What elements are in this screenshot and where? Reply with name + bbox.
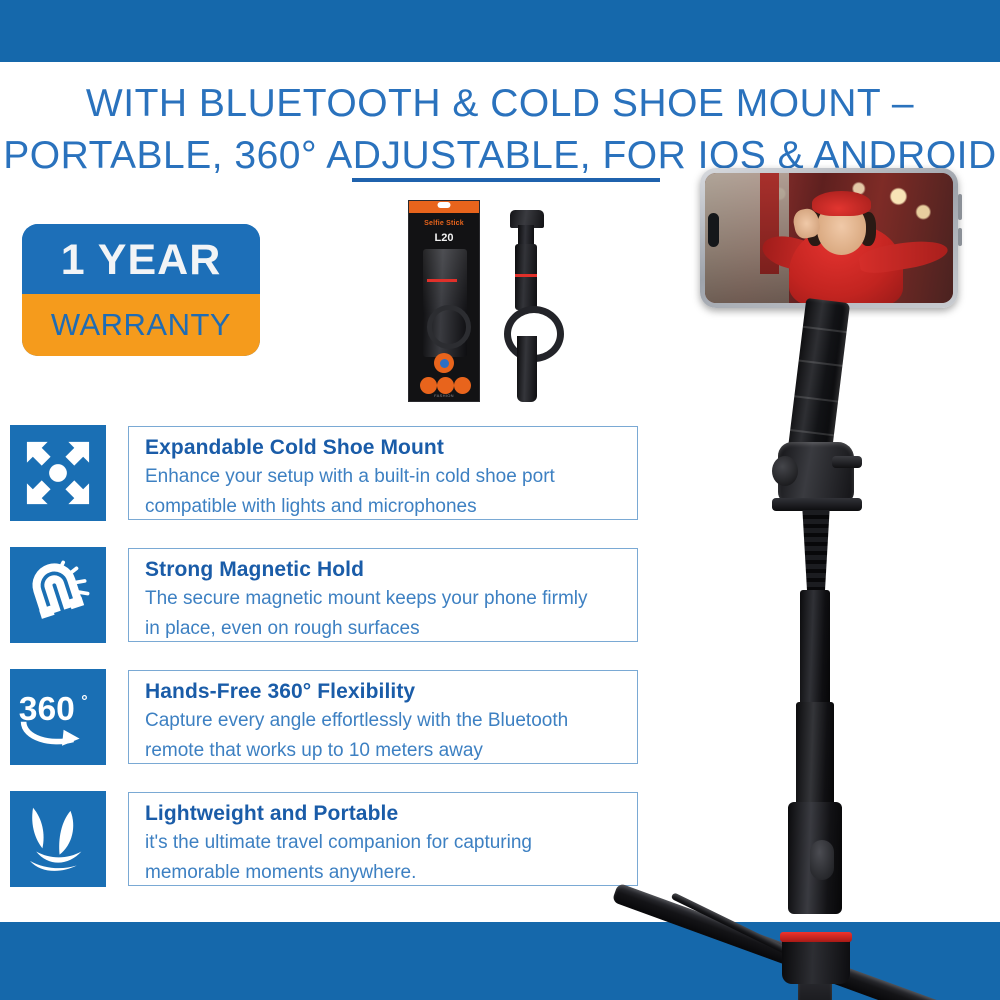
- package-badge-dot: [440, 359, 449, 368]
- top-blue-band: [0, 0, 1000, 62]
- package-feature-dot: [437, 377, 454, 394]
- package-red-accent: [427, 279, 457, 282]
- stick-pole: [517, 336, 537, 402]
- expand-arrows-icon: [10, 425, 106, 521]
- package-model-text: L20: [409, 232, 479, 244]
- product-photo-caption: selfie-stick-tripod-with-phone-mounted: [560, 150, 561, 151]
- package-footer-text: FASHION: [409, 393, 479, 398]
- screen-person-beret: [812, 191, 872, 216]
- pole-ribbed-section: [796, 510, 836, 594]
- package-hang-tab: [409, 200, 479, 213]
- main-product-photo: selfie-stick-tripod-with-phone-mounted: [560, 150, 1000, 930]
- package-ring-illustration: [427, 305, 471, 349]
- package-feature-dot: [420, 377, 437, 394]
- pole-middle-section: [796, 702, 834, 812]
- warranty-badge: 1 YEAR WARRANTY: [22, 224, 260, 356]
- mounted-phone: [700, 168, 958, 308]
- pole-collar: [772, 498, 862, 511]
- phone-camera-notch: [708, 213, 719, 247]
- magnet-icon: [10, 547, 106, 643]
- joint-adjust-knob: [772, 456, 798, 486]
- phone-side-button: [958, 194, 962, 220]
- feather-icon: [10, 791, 106, 887]
- package-hang-hole: [438, 202, 451, 208]
- stick-red-accent: [515, 274, 537, 277]
- folded-selfie-stick-photo: [492, 210, 562, 406]
- phone-screen: [705, 173, 953, 303]
- svg-text:°: °: [81, 693, 87, 710]
- svg-text:360: 360: [19, 691, 75, 728]
- package-badge: [434, 353, 454, 373]
- 360-rotation-icon: 360 °: [10, 669, 106, 765]
- product-infographic: WITH BLUETOOTH & COLD SHOE MOUNT – PORTA…: [0, 0, 1000, 1000]
- package-brand-text: Selfie Stick: [409, 220, 479, 227]
- tripod-red-ring: [780, 932, 852, 942]
- warranty-label: WARRANTY: [22, 294, 260, 356]
- product-package-box: Selfie Stick L20 FASHION: [408, 200, 480, 402]
- joint-screw: [832, 456, 862, 468]
- stick-body: [515, 244, 537, 310]
- warranty-duration: 1 YEAR: [22, 224, 260, 296]
- shutter-button: [810, 840, 834, 880]
- package-feature-dot: [454, 377, 471, 394]
- tripod-hub: [782, 940, 850, 984]
- pole-upper-section: [800, 590, 830, 710]
- phone-side-button: [958, 228, 962, 246]
